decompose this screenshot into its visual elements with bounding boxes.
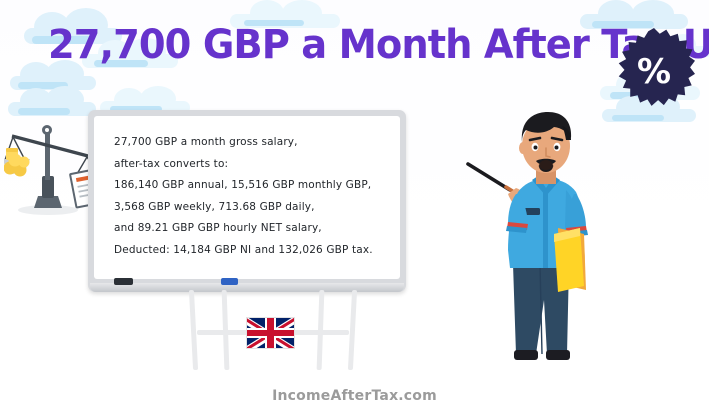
infographic-canvas: 27,700 GBP a Month After Tax UK % <box>0 0 709 419</box>
percent-badge-icon: % <box>613 28 695 110</box>
board-line-3: 186,140 GBP annual, 15,516 GBP monthly G… <box>114 175 392 197</box>
page-title: 27,700 GBP a Month After Tax UK <box>48 22 624 68</box>
uk-flag-icon <box>246 317 295 349</box>
board-line-2: after-tax converts to: <box>114 154 392 176</box>
pointer-stick-icon <box>468 164 514 192</box>
stand-leg <box>348 290 357 370</box>
whiteboard-text: 27,700 GBP a month gross salary, after-t… <box>114 132 392 261</box>
board-line-4: 3,568 GBP weekly, 713.68 GBP daily, <box>114 197 392 219</box>
site-watermark: IncomeAfterTax.com <box>0 388 709 404</box>
board-line-1: 27,700 GBP a month gross salary, <box>114 132 392 154</box>
whiteboard-stand <box>183 290 363 372</box>
folder-icon <box>554 228 586 292</box>
blue-marker-icon <box>221 278 238 285</box>
eraser-icon <box>114 278 133 285</box>
whiteboard: 27,700 GBP a month gross salary, after-t… <box>88 110 406 292</box>
board-line-5: and 89.21 GBP GBP hourly NET salary, <box>114 218 392 240</box>
percent-symbol: % <box>613 28 695 110</box>
teacher-character <box>466 104 626 370</box>
board-line-6: Deducted: 14,184 GBP NI and 132,026 GBP … <box>114 240 392 262</box>
